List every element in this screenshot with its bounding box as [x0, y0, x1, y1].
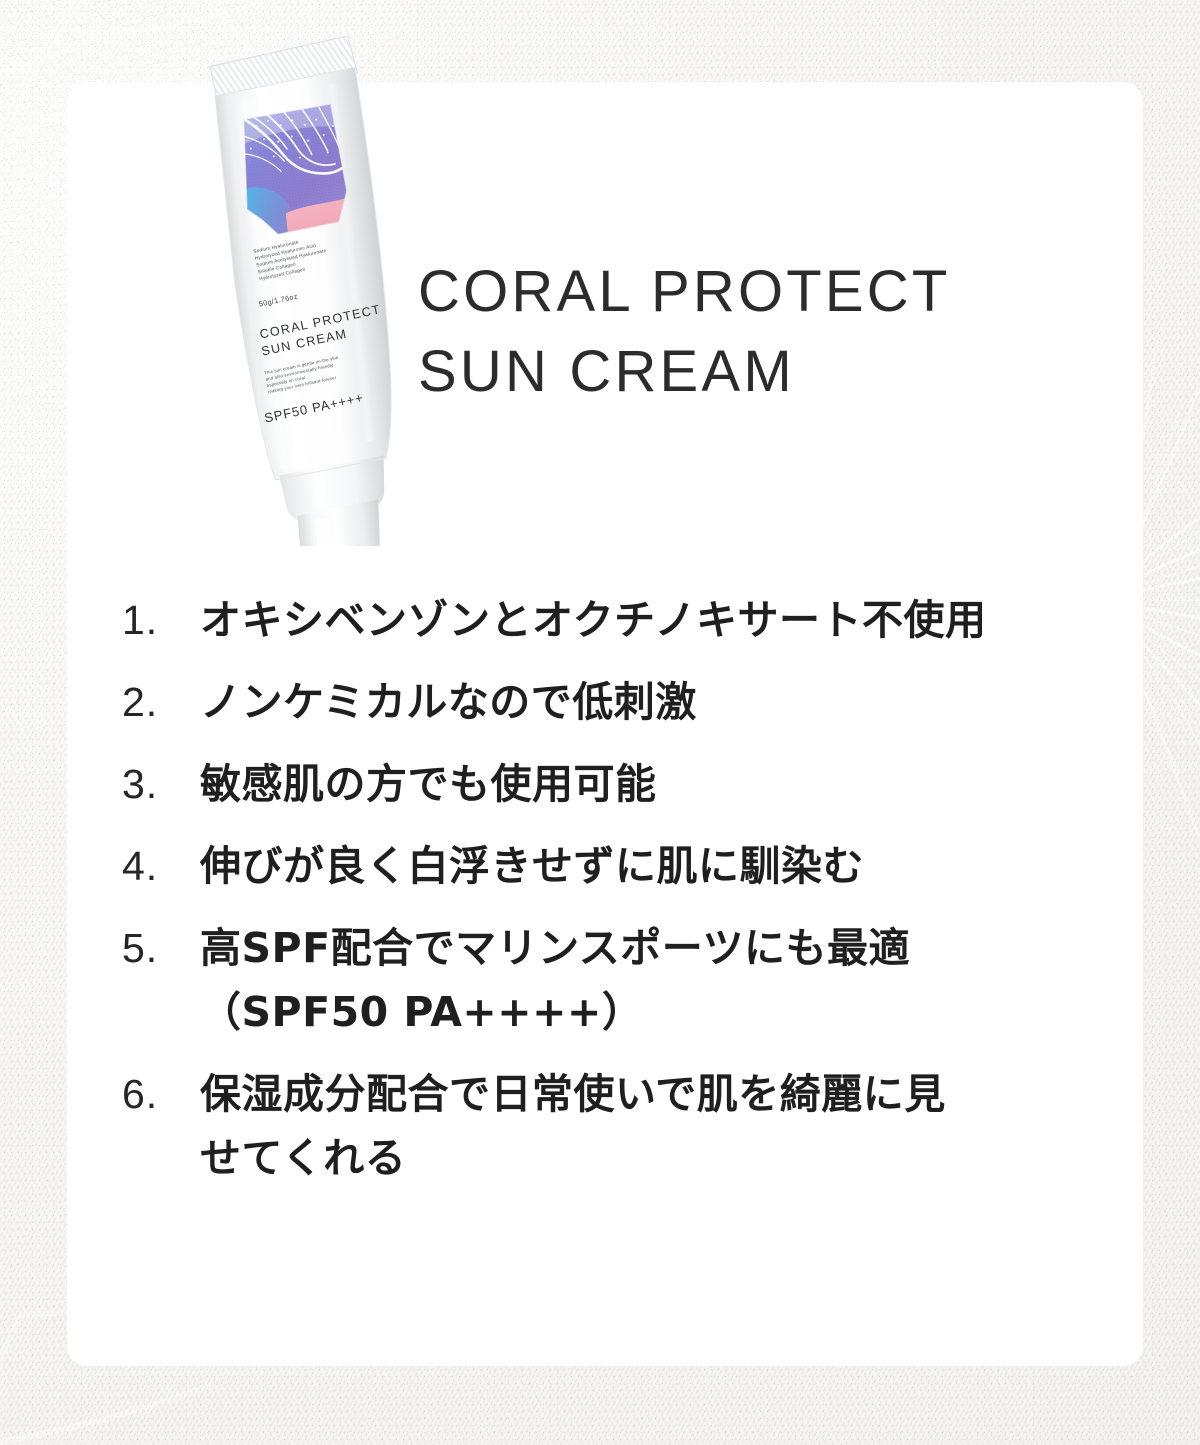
list-item: 6. 保湿成分配合で日常使いで肌を綺麗に見 せてくれる [122, 1062, 1102, 1190]
list-item-text: 高SPF配合でマリンスポーツにも最適 （SPF50 PA++++） [200, 916, 1102, 1044]
list-item-text-line-1: 高SPF配合でマリンスポーツにも最適 [200, 924, 910, 972]
list-item-number: 2. [122, 670, 200, 734]
list-item-number: 1. [122, 588, 200, 652]
list-item-text-line-1: 保湿成分配合で日常使いで肌を綺麗に見 [200, 1070, 946, 1118]
page-root: Sodium Hyaluronate Hydrolyzed Hyaluronic… [0, 0, 1200, 1445]
list-item-text: 保湿成分配合で日常使いで肌を綺麗に見 せてくれる [200, 1062, 1102, 1190]
feature-list: 1. オキシベンゾンとオクチノキサート不使用 2. ノンケミカルなので低刺激 3… [122, 588, 1102, 1208]
list-item-text: 敏感肌の方でも使用可能 [200, 752, 1102, 816]
list-item: 2. ノンケミカルなので低刺激 [122, 670, 1102, 734]
list-item-text-line-1: 伸びが良く白浮きせずに肌に馴染む [200, 842, 864, 890]
list-item: 4. 伸びが良く白浮きせずに肌に馴染む [122, 834, 1102, 898]
list-item-text-line-1: オキシベンゾンとオクチノキサート不使用 [200, 596, 986, 644]
list-item-number: 5. [122, 916, 200, 980]
list-item-text-line-2: （SPF50 PA++++） [200, 980, 1102, 1044]
list-item: 1. オキシベンゾンとオクチノキサート不使用 [122, 588, 1102, 652]
list-item: 5. 高SPF配合でマリンスポーツにも最適 （SPF50 PA++++） [122, 916, 1102, 1044]
list-item-number: 6. [122, 1062, 200, 1126]
list-item-text: オキシベンゾンとオクチノキサート不使用 [200, 588, 1102, 652]
page-title-line-2: SUN CREAM [418, 332, 1058, 412]
list-item-text: ノンケミカルなので低刺激 [200, 670, 1102, 734]
page-title-line-1: CORAL PROTECT [418, 252, 1058, 332]
list-item-text-line-1: 敏感肌の方でも使用可能 [200, 760, 657, 808]
list-item-number: 4. [122, 834, 200, 898]
list-item-text: 伸びが良く白浮きせずに肌に馴染む [200, 834, 1102, 898]
list-item-text-line-1: ノンケミカルなので低刺激 [200, 678, 697, 726]
list-item-text-line-2: せてくれる [200, 1126, 1102, 1190]
page-title: CORAL PROTECT SUN CREAM [418, 252, 1058, 412]
list-item: 3. 敏感肌の方でも使用可能 [122, 752, 1102, 816]
list-item-number: 3. [122, 752, 200, 816]
